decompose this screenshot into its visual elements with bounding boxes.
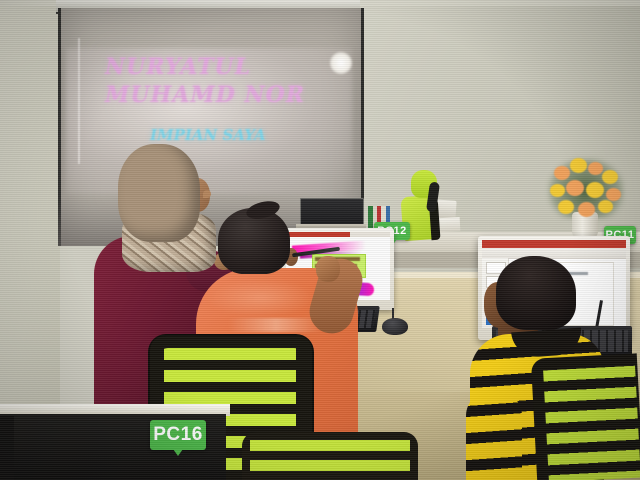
wall-left (0, 0, 60, 430)
slide-title-line1: NURYATUL (105, 54, 251, 80)
teacher-hijab (118, 144, 200, 242)
station-tag-pc16: PC16 (150, 420, 206, 450)
station-tag-pc16-label: PC16 (153, 424, 203, 446)
slide-subtitle: IMPIAN SAYA (150, 126, 266, 144)
projection-edge-line (78, 38, 80, 164)
teacher-nose (203, 190, 211, 198)
computer-mouse[interactable] (382, 318, 408, 335)
student-left-shirt-print (228, 318, 324, 332)
chair-right-slats (543, 366, 640, 480)
foreground-desk-side (0, 416, 14, 480)
student-left-shoulder-highlight (206, 278, 316, 318)
flower-bouquet (546, 156, 628, 220)
right-monitor-titlebar (482, 240, 626, 248)
slide-title-line2: MUHAMD NOR (105, 82, 305, 108)
center-monitor-ribbon (286, 232, 390, 237)
student-right-head (496, 256, 576, 330)
student-left-hand (316, 256, 340, 282)
student-right-arm (466, 390, 522, 480)
screenshot-root: NURYATUL MUHAMD NOR IMPIAN SAYA PC12 PC1… (0, 0, 640, 480)
chair-foreground-slats (250, 440, 410, 480)
projector-hotspot (330, 52, 352, 74)
